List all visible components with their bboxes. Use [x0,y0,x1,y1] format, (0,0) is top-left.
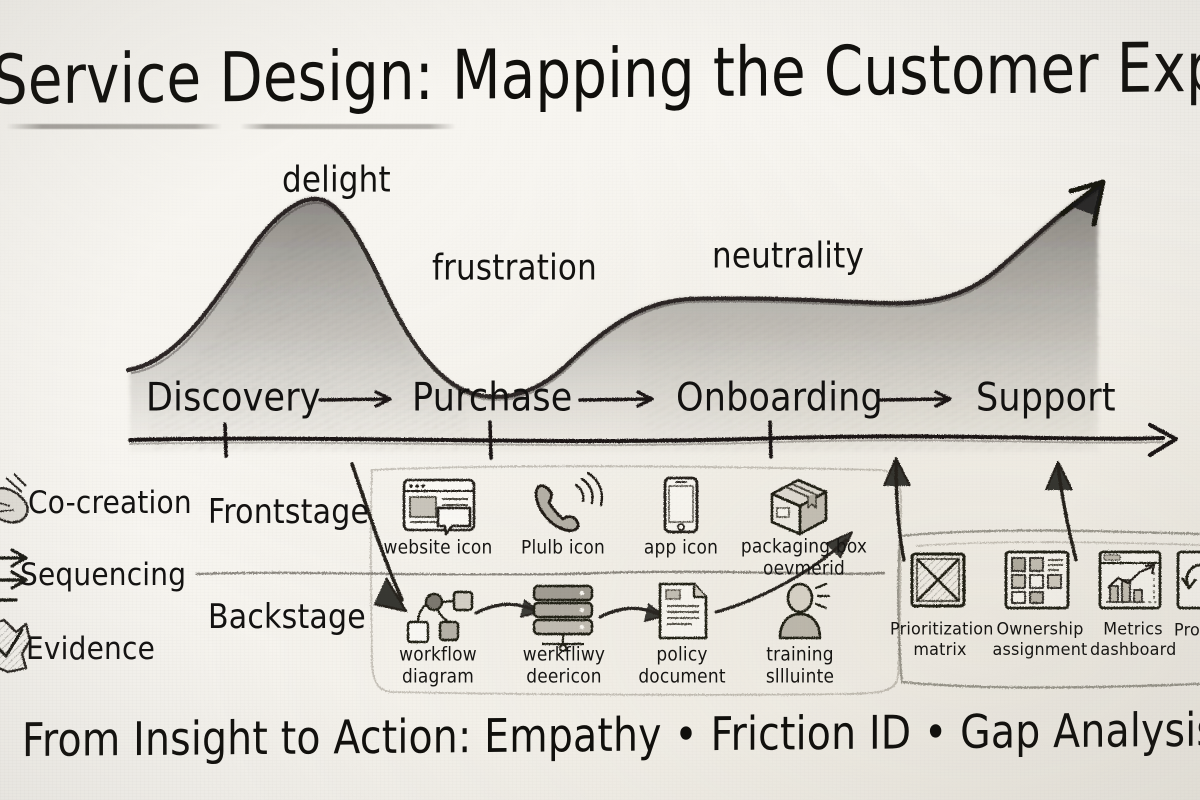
backstage-caption-database: werkfliwy deericon [508,644,620,688]
phone-handset-icon [536,473,602,531]
emotion-label-delight: delight [282,159,391,200]
document-icon [660,584,706,638]
principle-label-evidence: Evidence [26,630,155,667]
curve-stroke [128,187,1100,400]
footer-tagline: From Insight to Action: Empathy • Fricti… [22,704,1194,768]
tiles-grid-icon [1006,552,1068,608]
row-label-frontstage: Frontstage [208,493,369,532]
page-title: Service Design: Mapping the Customer Exp… [0,30,1185,118]
package-box-icon [772,480,826,534]
sketch-canvas: Service Design: Mapping the Customer Exp… [0,0,1200,800]
toolkit-upward-arrows [884,458,1076,560]
curve-arrowhead [1062,182,1103,224]
frontstage-caption-phone: Plulb icon [508,537,618,559]
title-underline [6,124,456,129]
toolkit-caption-ownership: Ownership assignment [988,618,1092,659]
principle-label-sequencing: Sequencing [20,556,186,593]
chart-dashboard-icon [1100,552,1160,608]
journey-timeline-axis [130,422,1176,458]
refresh-circular-arrow-icon [1178,552,1200,608]
toolkit-panel-outline [898,531,1200,688]
row-label-backstage: Backstage [208,598,366,637]
smartphone-icon [665,478,697,532]
journey-stage-support[interactable]: Support [976,376,1116,421]
frontstage-caption-app: app icon [628,537,734,559]
node-graph-icon [408,592,472,642]
journey-stage-onboarding[interactable]: Onboarding [676,376,883,421]
backstage-caption-workflow: workflow diagram [380,644,496,688]
backstage-caption-training: training sllluinte [744,644,856,688]
person-avatar-icon [780,584,829,638]
matrix-grid-icon [912,554,964,606]
backstage-caption-policy: policy document [626,644,738,688]
toolkit-caption-metrics: Metrics dashboard [1090,618,1176,659]
toolkit-caption-prioritization: Prioritization matrix [890,618,990,659]
frontstage-caption-packaging: packaging box oevmerid [736,536,872,580]
principle-label-co-creation: Co-creation [28,484,192,521]
principle-icon-handshake [0,474,28,522]
journey-stage-purchase[interactable]: Purchase [412,376,573,421]
browser-window-icon [404,480,474,534]
frontstage-caption-website: website icon [378,537,498,559]
journey-stage-discovery[interactable]: Discovery [146,376,321,421]
toolkit-caption-process: Pro [1174,619,1200,640]
emotion-label-frustration: frustration [432,247,597,288]
database-stack-icon [534,586,592,651]
emotion-label-neutrality: neutrality [712,235,864,276]
